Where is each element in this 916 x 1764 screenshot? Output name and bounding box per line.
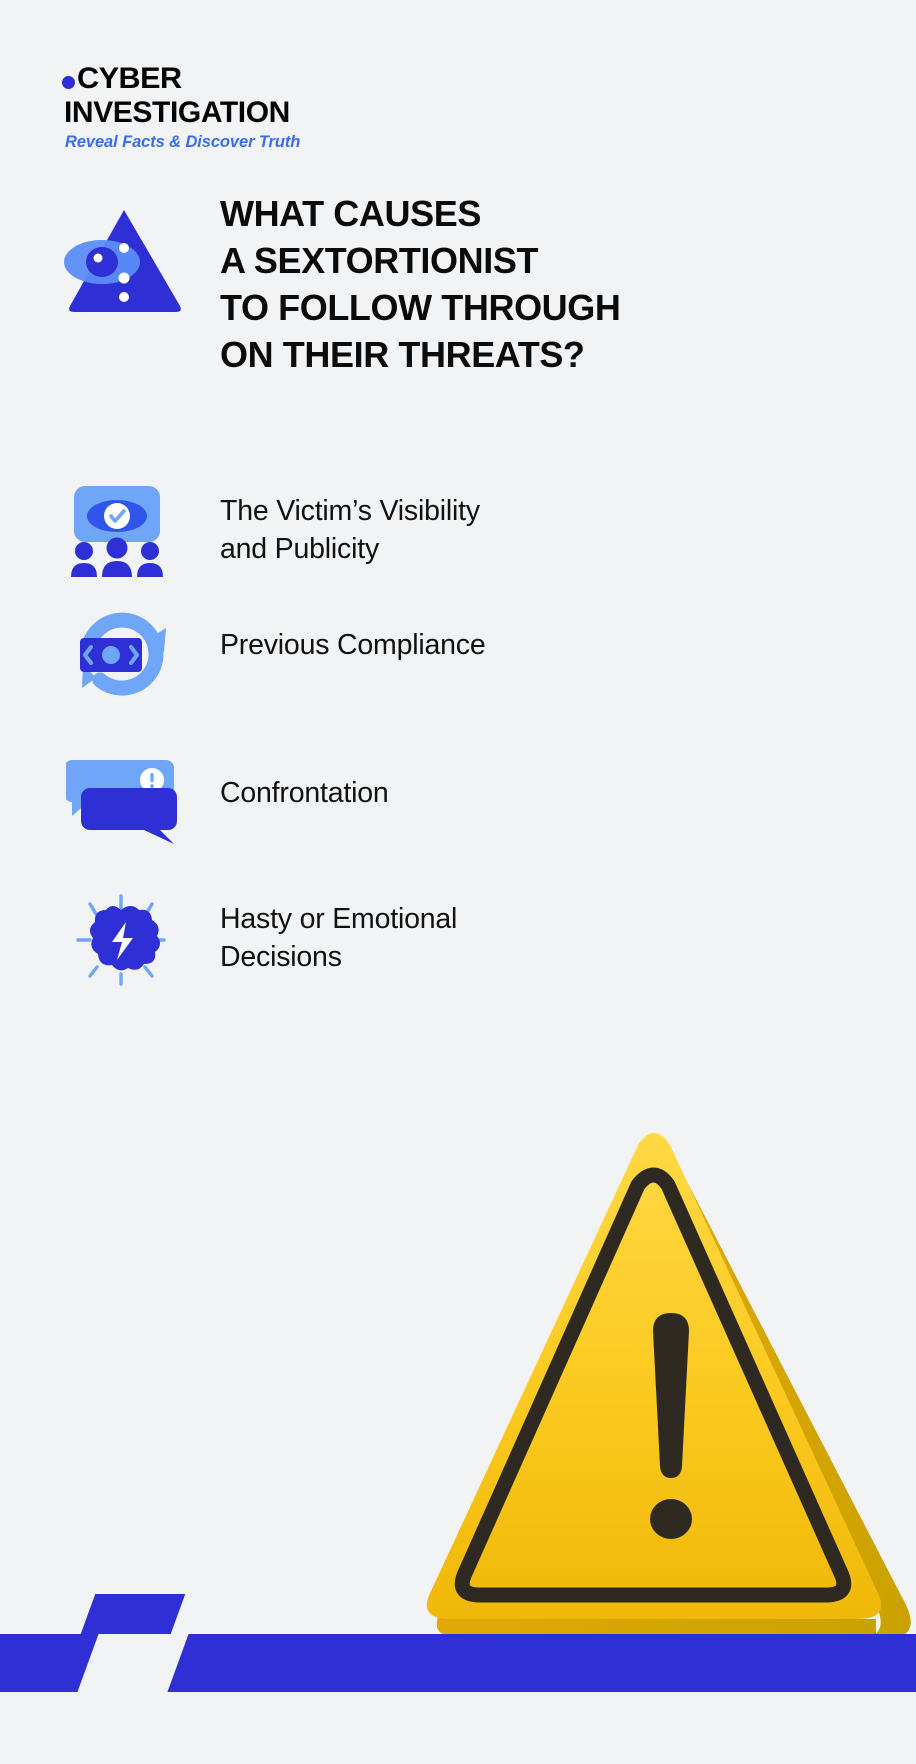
brand-name-line1: CYBER (77, 64, 182, 94)
causes-list: The Victim’s Visibility and Publicity Pr… (62, 470, 822, 1010)
brand-logo-row: CYBER (62, 64, 300, 94)
brain-lightning-icon (62, 880, 220, 990)
list-item-label: Confrontation (220, 740, 389, 812)
money-refresh-icon (62, 588, 220, 698)
brand-tagline: Reveal Facts & Discover Truth (65, 133, 300, 152)
brand-dot-icon (62, 76, 75, 89)
chat-bubbles-alert-icon (62, 740, 220, 850)
headline-line-1: WHAT CAUSES (220, 190, 762, 237)
headline-line-2: A SEXTORTIONIST (220, 237, 762, 284)
footer-band-tab (81, 1594, 186, 1634)
list-item-label: The Victim’s Visibility and Publicity (220, 470, 480, 569)
headline-section: WHAT CAUSES A SEXTORTIONIST TO FOLLOW TH… (62, 190, 762, 379)
list-item-label: Previous Compliance (220, 588, 486, 664)
list-item: The Victim’s Visibility and Publicity (62, 470, 822, 588)
eye-visibility-people-icon (62, 470, 220, 580)
list-item: Previous Compliance (62, 588, 822, 740)
headline-line-3: TO FOLLOW THROUGH (220, 284, 762, 331)
page-title: WHAT CAUSES A SEXTORTIONIST TO FOLLOW TH… (220, 190, 762, 379)
footer-band (0, 1569, 916, 1759)
list-item: Hasty or Emotional Decisions (62, 880, 822, 1010)
brand-logo: CYBER INVESTIGATION Reveal Facts & Disco… (62, 64, 300, 152)
list-item: Confrontation (62, 740, 822, 880)
headline-line-4: ON THEIR THREATS? (220, 331, 762, 378)
warning-triangle-icon (62, 202, 192, 322)
list-item-label: Hasty or Emotional Decisions (220, 880, 457, 977)
brand-name-line2: INVESTIGATION (64, 97, 300, 129)
